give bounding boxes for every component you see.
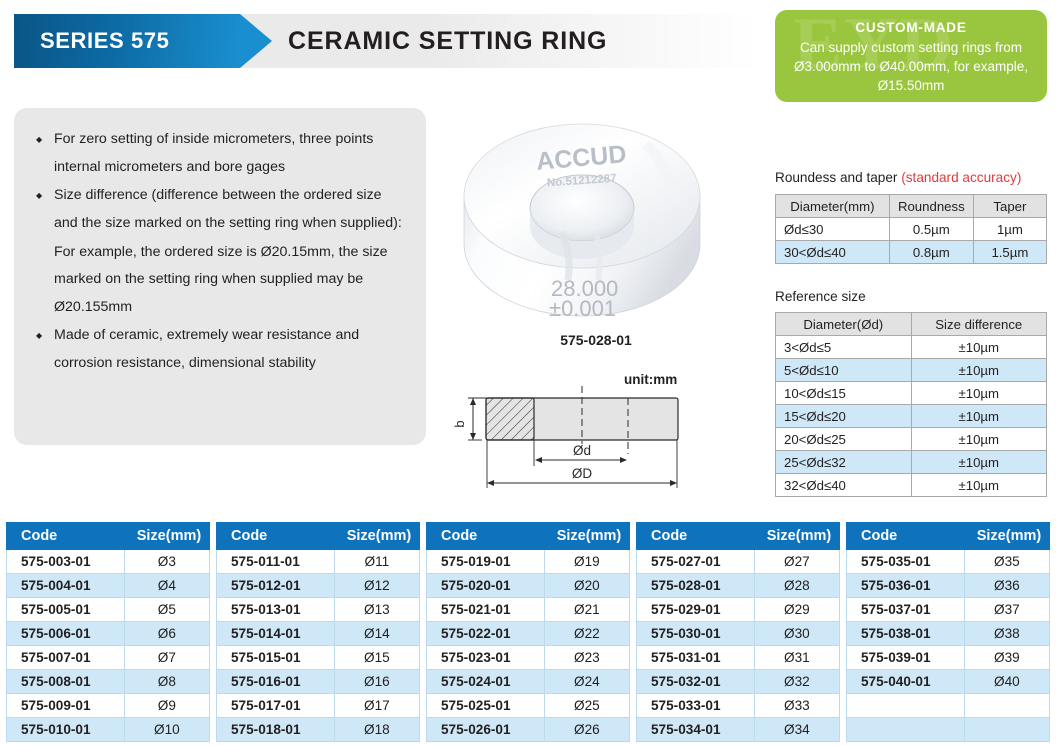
table-row[interactable]: 575-019-01Ø19 <box>427 550 630 574</box>
code-table-2: CodeSize(mm)575-011-01Ø11575-012-01Ø1257… <box>216 522 420 742</box>
table-row[interactable]: 575-006-01Ø6 <box>7 622 210 646</box>
cell-size: Ø18 <box>334 718 419 742</box>
cell-size: Ø36 <box>964 574 1049 598</box>
cell-code: 575-004-01 <box>7 574 125 598</box>
cell-size: Ø29 <box>754 598 839 622</box>
cell-size: Ø5 <box>124 598 209 622</box>
cell-code: 575-025-01 <box>427 694 545 718</box>
photo-tolerance-text: ±0.001 <box>549 296 616 321</box>
code-table-1: CodeSize(mm)575-003-01Ø3575-004-01Ø4575-… <box>6 522 210 742</box>
cell-size: Ø9 <box>124 694 209 718</box>
cell-size: Ø24 <box>544 670 629 694</box>
cell-size: Ø16 <box>334 670 419 694</box>
cell-code: 575-011-01 <box>217 550 335 574</box>
series-badge-label: SERIES 575 <box>14 28 170 54</box>
cell-code: 575-015-01 <box>217 646 335 670</box>
table-row[interactable]: 575-026-01Ø26 <box>427 718 630 742</box>
cell-size: Ø20 <box>544 574 629 598</box>
cell-size: Ø22 <box>544 622 629 646</box>
cell-size-difference: ±10µm <box>911 336 1047 359</box>
badge-arrow-icon <box>240 14 272 68</box>
table-row: 32<Ød≤40 ±10µm <box>776 474 1047 497</box>
cell-size: Ø13 <box>334 598 419 622</box>
cell-size: Ø31 <box>754 646 839 670</box>
col-code: Code <box>7 523 125 550</box>
cell-size-difference: ±10µm <box>911 405 1047 428</box>
col-size: Size(mm) <box>964 523 1049 550</box>
table-row[interactable]: 575-036-01Ø36 <box>847 574 1050 598</box>
table-row[interactable]: 575-017-01Ø17 <box>217 694 420 718</box>
cell-size: Ø7 <box>124 646 209 670</box>
cell-taper: 1µm <box>973 218 1046 241</box>
col-taper: Taper <box>973 195 1046 218</box>
product-code-tables: CodeSize(mm)575-003-01Ø3575-004-01Ø4575-… <box>6 522 1050 742</box>
cell-size: Ø28 <box>754 574 839 598</box>
cell-code: 575-023-01 <box>427 646 545 670</box>
cell-size: Ø27 <box>754 550 839 574</box>
table-header-row: CodeSize(mm) <box>427 523 630 550</box>
table-row[interactable]: 575-005-01Ø5 <box>7 598 210 622</box>
table-row: 30<Ød≤40 0.8µm 1.5µm <box>776 241 1047 264</box>
table-row[interactable]: 575-020-01Ø20 <box>427 574 630 598</box>
table-header-row: CodeSize(mm) <box>7 523 210 550</box>
table-row[interactable]: 575-035-01Ø35 <box>847 550 1050 574</box>
cell-size: Ø35 <box>964 550 1049 574</box>
cell-size: Ø34 <box>754 718 839 742</box>
cell-diameter: 20<Ød≤25 <box>776 428 912 451</box>
table-row[interactable]: 575-024-01Ø24 <box>427 670 630 694</box>
list-item: Made of ceramic, extremely wear resistan… <box>36 322 406 377</box>
col-code: Code <box>427 523 545 550</box>
cell-code: 575-010-01 <box>7 718 125 742</box>
cell-code: 575-008-01 <box>7 670 125 694</box>
ceramic-ring-illustration: ACCUD No.51212287 28.000 ±0.001 <box>446 104 746 354</box>
cell-code: 575-006-01 <box>7 622 125 646</box>
col-code: Code <box>217 523 335 550</box>
table-row[interactable]: 575-012-01Ø12 <box>217 574 420 598</box>
cell-code: 575-009-01 <box>7 694 125 718</box>
cell-size: Ø40 <box>964 670 1049 694</box>
cell-size-difference: ±10µm <box>911 382 1047 405</box>
table-row[interactable]: 575-031-01Ø31 <box>637 646 840 670</box>
custom-made-body: Can supply custom setting rings from Ø3.… <box>786 38 1036 95</box>
col-size: Size(mm) <box>544 523 629 550</box>
cell-diameter: 32<Ød≤40 <box>776 474 912 497</box>
table-row[interactable]: 575-030-01Ø30 <box>637 622 840 646</box>
cell-taper: 1.5µm <box>973 241 1046 264</box>
cell-code: 575-013-01 <box>217 598 335 622</box>
cell-code: 575-021-01 <box>427 598 545 622</box>
table-row[interactable]: 575-029-01Ø29 <box>637 598 840 622</box>
table-row[interactable]: 575-040-01Ø40 <box>847 670 1050 694</box>
cell-size: Ø6 <box>124 622 209 646</box>
table-row: 5<Ød≤10 ±10µm <box>776 359 1047 382</box>
series-badge: SERIES 575 <box>14 14 240 68</box>
cell-code: 575-037-01 <box>847 598 965 622</box>
table-header-row: Diameter(Ød) Size difference <box>776 313 1047 336</box>
cell-size: Ø8 <box>124 670 209 694</box>
code-table-5: CodeSize(mm)575-035-01Ø35575-036-01Ø3657… <box>846 522 1050 742</box>
cell-size: Ø25 <box>544 694 629 718</box>
col-size: Size(mm) <box>334 523 419 550</box>
col-code: Code <box>637 523 755 550</box>
table-row[interactable]: 575-038-01Ø38 <box>847 622 1050 646</box>
table-header-row: CodeSize(mm) <box>637 523 840 550</box>
catalog-page: SERIES 575 CERAMIC SETTING RING EYD CUST… <box>0 0 1056 746</box>
cell-diameter: 5<Ød≤10 <box>776 359 912 382</box>
page-title: CERAMIC SETTING RING <box>288 14 607 68</box>
cell-code: 575-017-01 <box>217 694 335 718</box>
table-row[interactable]: 575-028-01Ø28 <box>637 574 840 598</box>
table-row[interactable]: 575-003-01Ø3 <box>7 550 210 574</box>
product-photo: ACCUD No.51212287 28.000 ±0.001 <box>446 104 746 354</box>
cell-code: 575-038-01 <box>847 622 965 646</box>
custom-made-title: CUSTOM-MADE <box>855 20 966 35</box>
col-diameter: Diameter(mm) <box>776 195 890 218</box>
table-row: 20<Ød≤25 ±10µm <box>776 428 1047 451</box>
list-item: For zero setting of inside micrometers, … <box>36 126 406 181</box>
table-header-row: CodeSize(mm) <box>217 523 420 550</box>
cell-size-difference: ±10µm <box>911 359 1047 382</box>
photo-caption: 575-028-01 <box>446 332 746 348</box>
table-row[interactable]: 575-032-01Ø32 <box>637 670 840 694</box>
cell-code: 575-012-01 <box>217 574 335 598</box>
description-panel: For zero setting of inside micrometers, … <box>14 108 426 445</box>
col-roundness: Roundness <box>889 195 973 218</box>
cell-size: Ø30 <box>754 622 839 646</box>
col-diameter: Diameter(Ød) <box>776 313 912 336</box>
table-row[interactable]: 575-034-01Ø34 <box>637 718 840 742</box>
dim-b-label: b <box>452 420 467 427</box>
table-row[interactable] <box>847 694 1050 718</box>
code-table-3: CodeSize(mm)575-019-01Ø19575-020-01Ø2057… <box>426 522 630 742</box>
cell-code <box>847 694 965 718</box>
cell-size: Ø38 <box>964 622 1049 646</box>
cell-code: 575-020-01 <box>427 574 545 598</box>
cell-size-difference: ±10µm <box>911 451 1047 474</box>
col-size-difference: Size difference <box>911 313 1047 336</box>
cell-diameter: 30<Ød≤40 <box>776 241 890 264</box>
list-item: Size difference (difference between the … <box>36 182 406 237</box>
table-row[interactable] <box>847 718 1050 742</box>
table-row[interactable]: 575-025-01Ø25 <box>427 694 630 718</box>
cell-diameter: Ød≤30 <box>776 218 890 241</box>
roundness-taper-table: Diameter(mm) Roundness Taper Ød≤30 0.5µm… <box>775 194 1047 264</box>
cell-diameter: 10<Ød≤15 <box>776 382 912 405</box>
table-row[interactable]: 575-013-01Ø13 <box>217 598 420 622</box>
cell-code: 575-034-01 <box>637 718 755 742</box>
cell-code: 575-003-01 <box>7 550 125 574</box>
table-row[interactable]: 575-016-01Ø16 <box>217 670 420 694</box>
cell-roundness: 0.5µm <box>889 218 973 241</box>
cell-size: Ø37 <box>964 598 1049 622</box>
table-row: 25<Ød≤32 ±10µm <box>776 451 1047 474</box>
cell-size: Ø15 <box>334 646 419 670</box>
table-row[interactable]: 575-011-01Ø11 <box>217 550 420 574</box>
table-row: Ød≤30 0.5µm 1µm <box>776 218 1047 241</box>
table-row[interactable]: 575-039-01Ø39 <box>847 646 1050 670</box>
size-difference-example: For example, the ordered size is Ø20.15m… <box>36 239 406 322</box>
dim-D-label: ØD <box>572 466 593 481</box>
cell-size: Ø4 <box>124 574 209 598</box>
table-row[interactable]: 575-023-01Ø23 <box>427 646 630 670</box>
cell-code: 575-029-01 <box>637 598 755 622</box>
cell-code: 575-022-01 <box>427 622 545 646</box>
cell-diameter: 25<Ød≤32 <box>776 451 912 474</box>
cell-code: 575-036-01 <box>847 574 965 598</box>
cell-code: 575-028-01 <box>637 574 755 598</box>
cell-size: Ø14 <box>334 622 419 646</box>
table-row: 3<Ød≤5 ±10µm <box>776 336 1047 359</box>
table-row[interactable]: 575-004-01Ø4 <box>7 574 210 598</box>
cell-size: Ø23 <box>544 646 629 670</box>
cell-size: Ø3 <box>124 550 209 574</box>
cell-diameter: 15<Ød≤20 <box>776 405 912 428</box>
cell-size: Ø21 <box>544 598 629 622</box>
cell-code: 575-014-01 <box>217 622 335 646</box>
cell-code: 575-031-01 <box>637 646 755 670</box>
feature-list: For zero setting of inside micrometers, … <box>36 126 406 377</box>
cell-code: 575-035-01 <box>847 550 965 574</box>
col-code: Code <box>847 523 965 550</box>
cell-size: Ø26 <box>544 718 629 742</box>
cell-code: 575-032-01 <box>637 670 755 694</box>
cell-size: Ø11 <box>334 550 419 574</box>
code-table-4: CodeSize(mm)575-027-01Ø27575-028-01Ø2857… <box>636 522 840 742</box>
table-row[interactable]: 575-018-01Ø18 <box>217 718 420 742</box>
cell-size-difference: ±10µm <box>911 428 1047 451</box>
table-row[interactable]: 575-021-01Ø21 <box>427 598 630 622</box>
table-header-row: CodeSize(mm) <box>847 523 1050 550</box>
roundness-caption-main: Roundess and taper <box>775 170 901 185</box>
table-header-row: Diameter(mm) Roundness Taper <box>776 195 1047 218</box>
cell-size: Ø32 <box>754 670 839 694</box>
cell-size-difference: ±10µm <box>911 474 1047 497</box>
cross-section-drawing: b Ød ØD <box>446 366 756 501</box>
cell-code: 575-033-01 <box>637 694 755 718</box>
roundness-caption: Roundess and taper (standard accuracy) <box>775 170 1021 185</box>
table-row: 15<Ød≤20 ±10µm <box>776 405 1047 428</box>
cell-code: 575-026-01 <box>427 718 545 742</box>
cell-size: Ø17 <box>334 694 419 718</box>
reference-caption: Reference size <box>775 289 866 304</box>
cell-code: 575-007-01 <box>7 646 125 670</box>
cell-size: Ø12 <box>334 574 419 598</box>
cell-code: 575-005-01 <box>7 598 125 622</box>
cell-code: 575-039-01 <box>847 646 965 670</box>
cell-code: 575-040-01 <box>847 670 965 694</box>
cell-size <box>964 718 1049 742</box>
cell-code <box>847 718 965 742</box>
table-row[interactable]: 575-027-01Ø27 <box>637 550 840 574</box>
table-row[interactable]: 575-022-01Ø22 <box>427 622 630 646</box>
table-row[interactable]: 575-015-01Ø15 <box>217 646 420 670</box>
cell-size <box>964 694 1049 718</box>
cell-size: Ø19 <box>544 550 629 574</box>
reference-size-table: Diameter(Ød) Size difference 3<Ød≤5 ±10µ… <box>775 312 1047 497</box>
table-row[interactable]: 575-010-01Ø10 <box>7 718 210 742</box>
cell-size: Ø33 <box>754 694 839 718</box>
table-row[interactable]: 575-007-01Ø7 <box>7 646 210 670</box>
drawing-svg: b Ød ØD <box>446 366 756 501</box>
table-row[interactable]: 575-037-01Ø37 <box>847 598 1050 622</box>
cell-code: 575-030-01 <box>637 622 755 646</box>
table-row[interactable]: 575-009-01Ø9 <box>7 694 210 718</box>
cell-code: 575-016-01 <box>217 670 335 694</box>
table-row[interactable]: 575-033-01Ø33 <box>637 694 840 718</box>
cell-roundness: 0.8µm <box>889 241 973 264</box>
cell-code: 575-018-01 <box>217 718 335 742</box>
cell-size: Ø39 <box>964 646 1049 670</box>
dim-d-label: Ød <box>573 443 591 458</box>
cell-diameter: 3<Ød≤5 <box>776 336 912 359</box>
table-row[interactable]: 575-008-01Ø8 <box>7 670 210 694</box>
cell-code: 575-027-01 <box>637 550 755 574</box>
roundness-caption-accent: (standard accuracy) <box>901 170 1021 185</box>
cell-code: 575-019-01 <box>427 550 545 574</box>
custom-made-box: EYD CUSTOM-MADE Can supply custom settin… <box>775 10 1047 102</box>
table-row: 10<Ød≤15 ±10µm <box>776 382 1047 405</box>
cell-size: Ø10 <box>124 718 209 742</box>
table-row[interactable]: 575-014-01Ø14 <box>217 622 420 646</box>
cell-code: 575-024-01 <box>427 670 545 694</box>
col-size: Size(mm) <box>754 523 839 550</box>
col-size: Size(mm) <box>124 523 209 550</box>
